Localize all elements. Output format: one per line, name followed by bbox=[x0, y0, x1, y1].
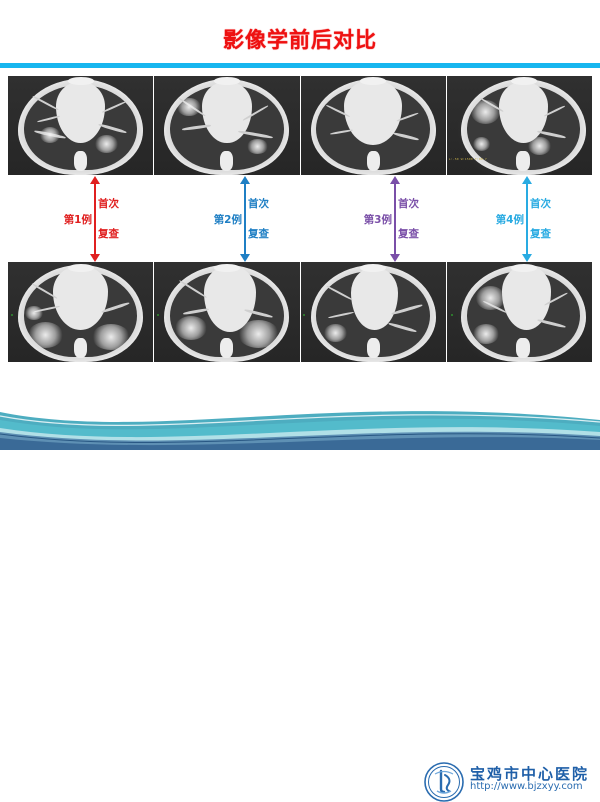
ct-image-case1-followup bbox=[8, 262, 153, 362]
page-title: 影像学前后对比 bbox=[0, 24, 600, 54]
label-case-number: 第3例 bbox=[364, 214, 392, 226]
ct-spine bbox=[220, 338, 233, 358]
ct-lesion-nodule bbox=[476, 286, 505, 310]
ct-image-case3-initial bbox=[301, 76, 446, 175]
ct-image-case4-followup bbox=[447, 262, 592, 362]
ct-lesion-nodule bbox=[471, 100, 500, 124]
ct-marker bbox=[11, 314, 13, 316]
ct-spine bbox=[74, 338, 87, 358]
label-case-number: 第2例 bbox=[214, 214, 242, 226]
label-first-scan: 首次 bbox=[530, 198, 551, 210]
ct-lesion bbox=[324, 324, 347, 342]
ct-image-case2-followup bbox=[154, 262, 299, 362]
label-followup-scan: 复查 bbox=[248, 228, 269, 240]
ct-spine bbox=[367, 338, 380, 358]
label-followup-scan: 复查 bbox=[98, 228, 119, 240]
slide-canvas: 影像学前后对比 bbox=[0, 0, 600, 450]
ct-image-case3-followup bbox=[301, 262, 446, 362]
ct-window-overlay-text: L:-50 W:1500 T:08.7 bbox=[449, 157, 487, 161]
comparison-annotations: 首次 第1例 复查 首次 第2例 复查 首次 第3例 复查 首次 第4例 复 bbox=[0, 176, 600, 262]
ct-lesion-consolidation bbox=[28, 322, 63, 348]
decorative-wave bbox=[0, 398, 600, 450]
slide-footer: 宝鸡市中心医院 http://www.bjzxyy.com bbox=[0, 382, 600, 450]
ct-sternum bbox=[214, 264, 240, 272]
ct-image-case4-initial: L:-50 W:1500 T:08.7 bbox=[447, 76, 592, 175]
arrow-down-icon bbox=[390, 254, 400, 262]
annotation-group-case4: 首次 第4例 复查 bbox=[452, 176, 600, 262]
connector-line bbox=[244, 183, 246, 255]
label-followup-scan: 复查 bbox=[530, 228, 551, 240]
label-first-scan: 首次 bbox=[248, 198, 269, 210]
ct-sternum bbox=[68, 264, 94, 272]
annotation-group-case1: 首次 第1例 复查 bbox=[20, 176, 170, 262]
ct-spine bbox=[516, 151, 529, 171]
label-followup-scan: 复查 bbox=[398, 228, 419, 240]
ct-lesion-consolidation bbox=[238, 320, 279, 348]
ct-image-case1-initial bbox=[8, 76, 153, 175]
label-case-number: 第1例 bbox=[64, 214, 92, 226]
annotation-group-case2: 首次 第2例 复查 bbox=[170, 176, 320, 262]
ct-lesion-consolidation bbox=[92, 324, 130, 350]
ct-lesion-consolidation bbox=[175, 316, 207, 340]
arrow-down-icon bbox=[522, 254, 532, 262]
connector-line bbox=[526, 183, 528, 255]
ct-spine bbox=[367, 151, 380, 171]
arrow-down-icon bbox=[90, 254, 100, 262]
ct-sternum bbox=[511, 264, 537, 272]
connector-line bbox=[394, 183, 396, 255]
label-first-scan: 首次 bbox=[398, 198, 419, 210]
connector-line bbox=[94, 183, 96, 255]
slide-header: 影像学前后对比 bbox=[0, 0, 600, 63]
ct-row-initial: L:-50 W:1500 T:08.7 bbox=[8, 76, 592, 175]
ct-spine bbox=[74, 151, 87, 171]
ct-row-followup bbox=[8, 262, 592, 362]
hospital-emblem-icon bbox=[424, 762, 464, 802]
ct-image-case2-initial bbox=[154, 76, 299, 175]
annotation-group-case3: 首次 第3例 复查 bbox=[320, 176, 470, 262]
ct-lesion bbox=[247, 139, 267, 154]
ct-lesion-consolidation bbox=[473, 324, 499, 344]
title-divider bbox=[0, 63, 600, 68]
ct-spine bbox=[220, 151, 233, 171]
label-first-scan: 首次 bbox=[98, 198, 119, 210]
label-case-number: 第4例 bbox=[496, 214, 524, 226]
ct-lesion bbox=[25, 306, 42, 320]
hospital-website[interactable]: http://www.bjzxyy.com bbox=[470, 781, 583, 792]
ct-sternum bbox=[360, 264, 386, 272]
ct-spine bbox=[516, 338, 529, 358]
ct-lesion bbox=[177, 98, 200, 116]
arrow-down-icon bbox=[240, 254, 250, 262]
